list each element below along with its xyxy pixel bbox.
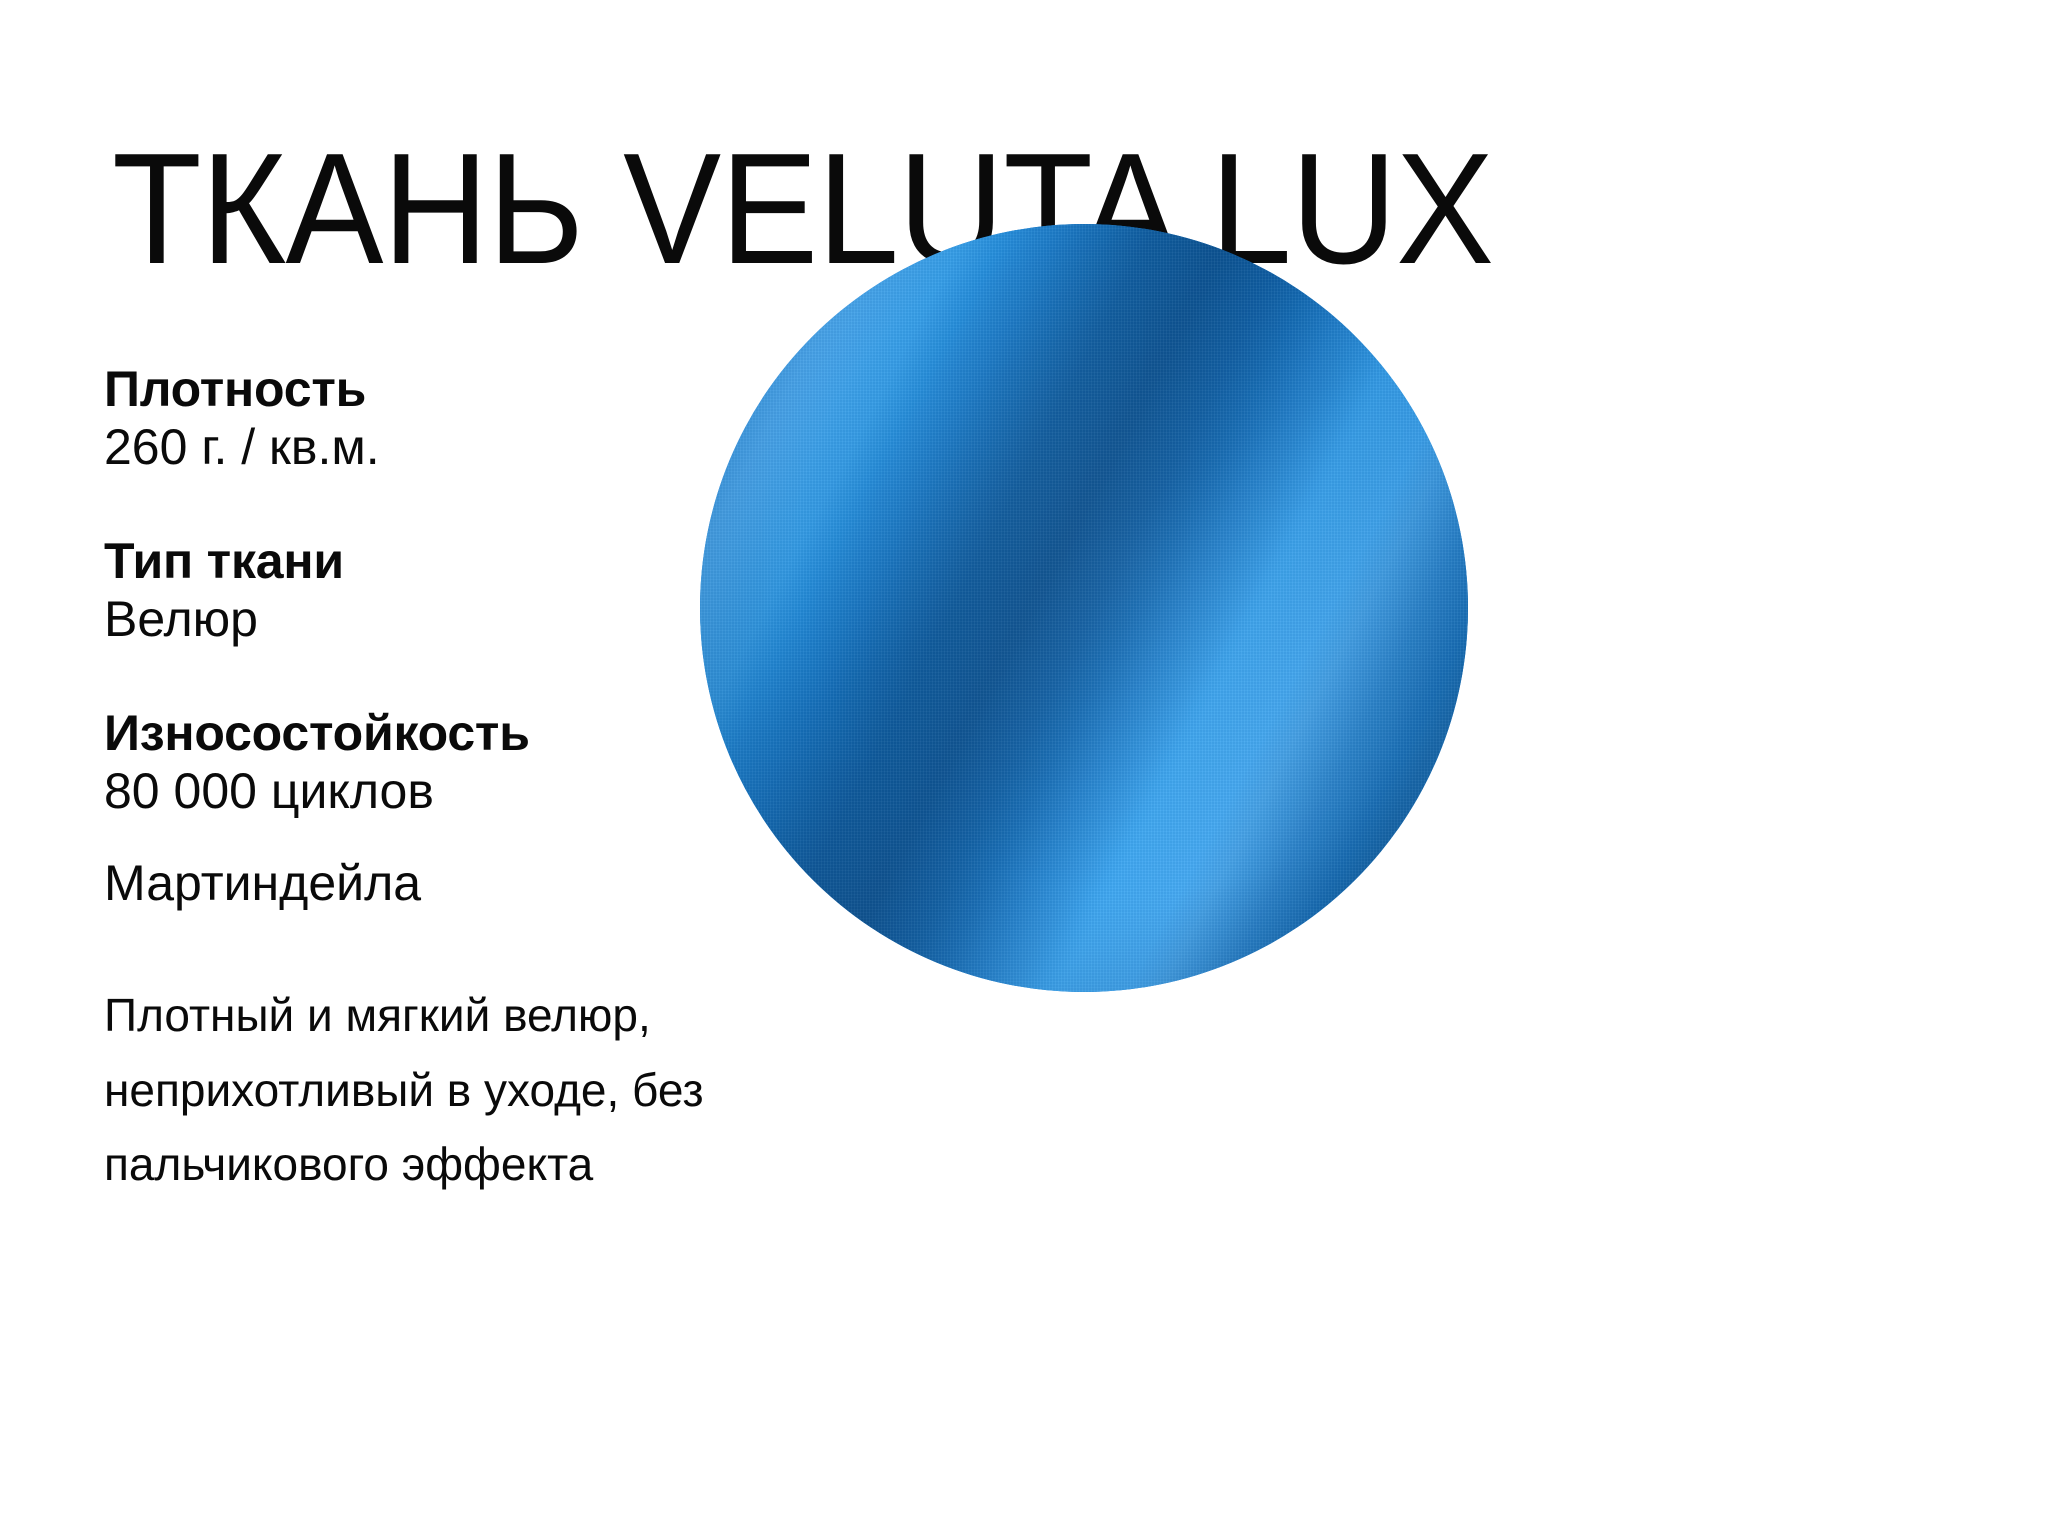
swatch-vignette-layer [700, 224, 1468, 992]
description-line-3: пальчикового эффекта [104, 1127, 924, 1202]
fabric-swatch-circle [700, 224, 1468, 992]
description-line-2: неприхотливый в уходе, без [104, 1053, 924, 1128]
fabric-description: Плотный и мягкий велюр, неприхотливый в … [104, 978, 924, 1202]
fabric-info-slide: ТКАНЬ VELUTA LUX Плотность 260 г. / кв.м… [0, 0, 2048, 1536]
